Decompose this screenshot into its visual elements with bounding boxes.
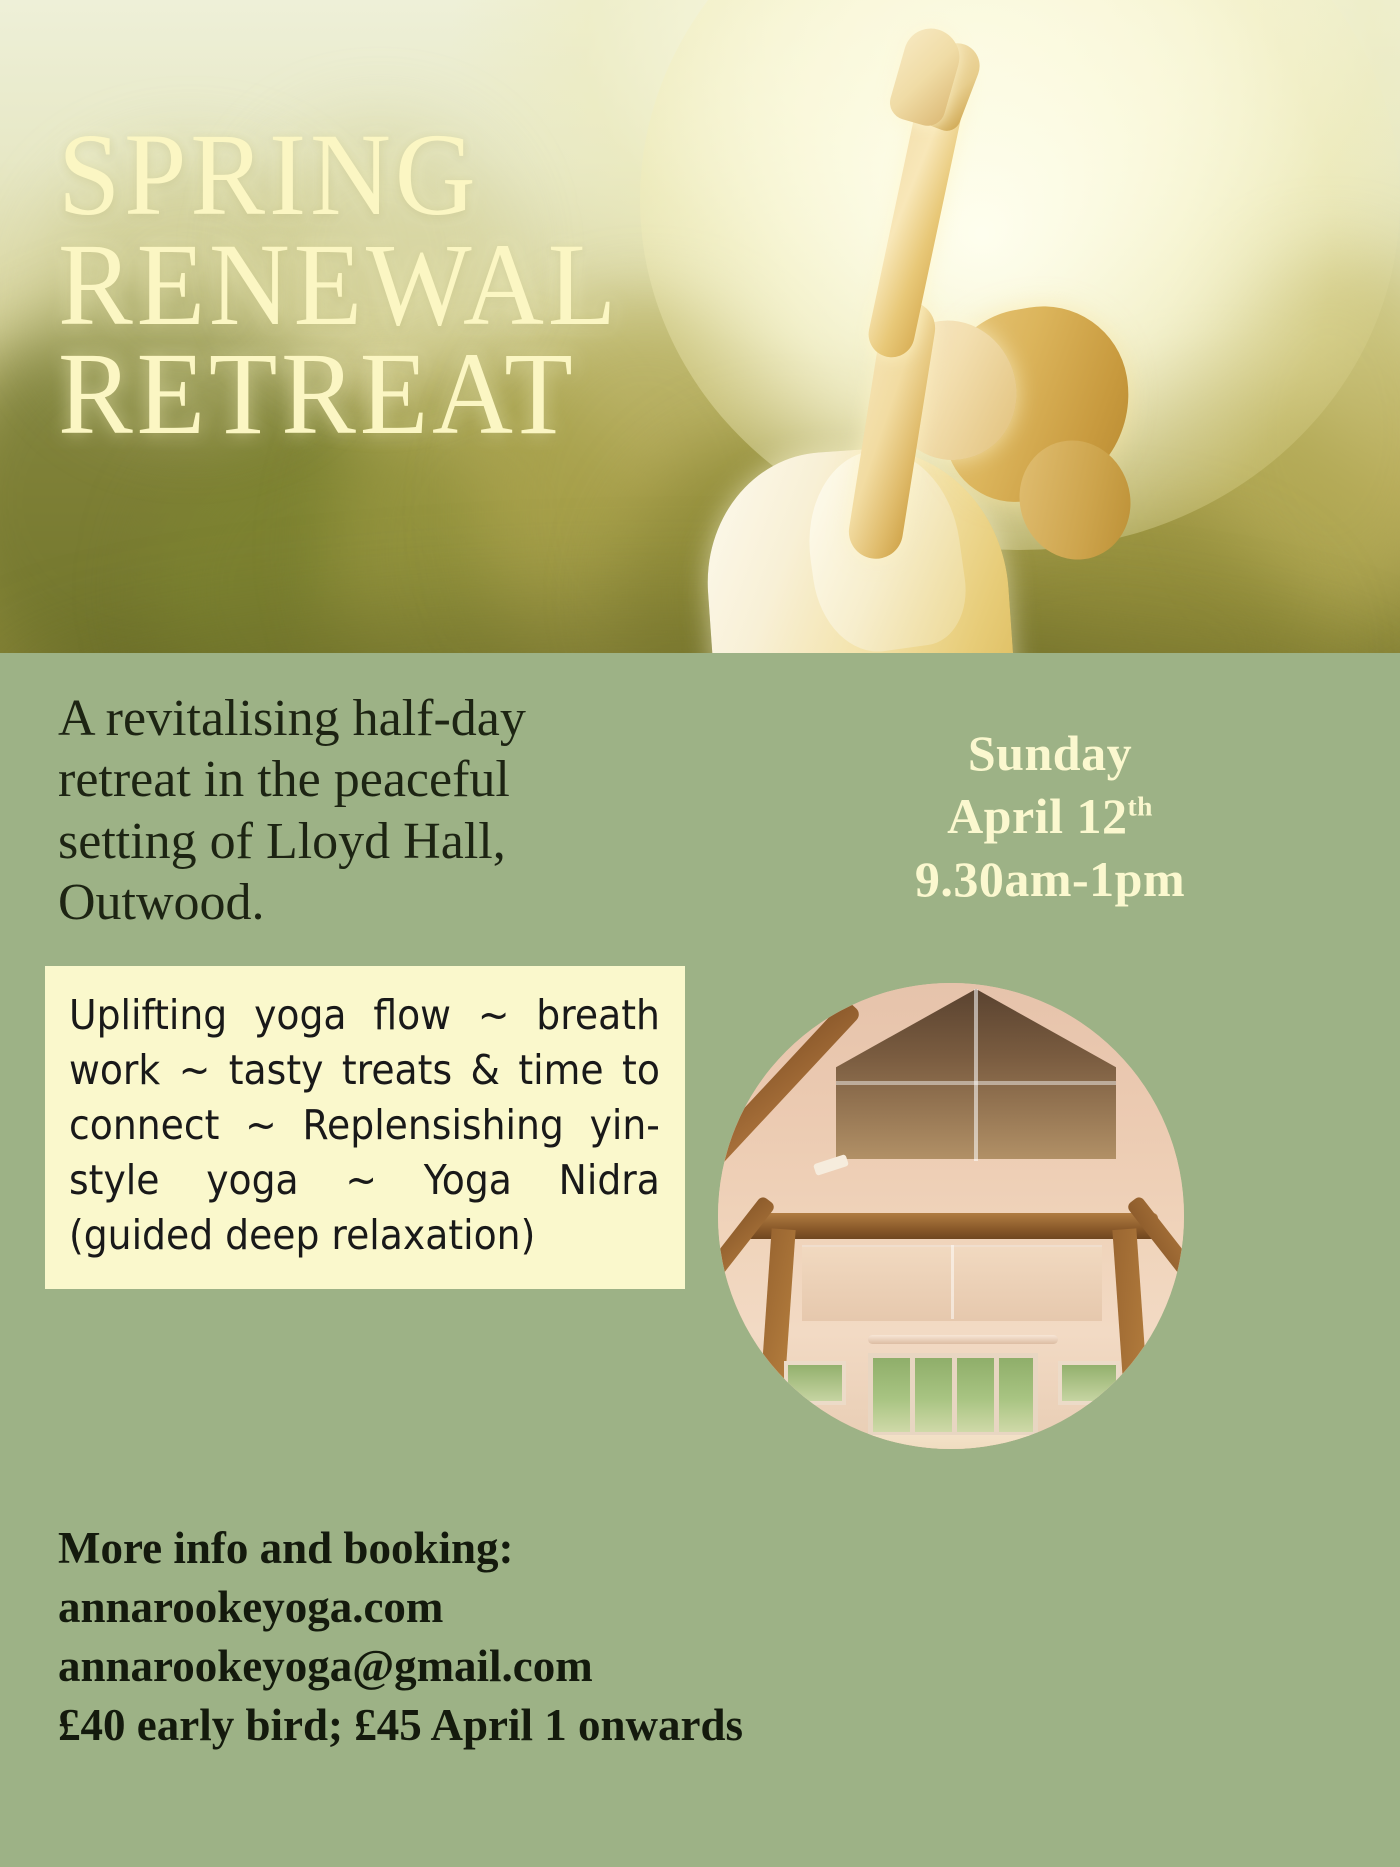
poster-root: SPRING RENEWAL RETREAT A revitalising ha… [0,0,1400,1867]
hall-floor-sheen [828,1435,1078,1449]
hall-door-mullion [994,1353,999,1437]
contact-block: More info and booking: annarookeyoga.com… [58,1519,918,1755]
hall-panel-divider [951,1245,954,1319]
intro-text: A revitalising half-day retreat in the p… [58,688,658,933]
page-title: SPRING RENEWAL RETREAT [58,120,780,449]
title-line-1: SPRING [58,120,780,230]
highlight-box: Uplifting yoga flow ~ breath work ~ tast… [45,966,685,1289]
contact-website[interactable]: annarookeyoga.com [58,1578,918,1637]
hall-tie-beam [746,1213,1158,1239]
hall-door-mullion [910,1353,915,1437]
hall-gable-crossline [836,1081,1116,1085]
date-date-main: April 12 [947,788,1127,844]
contact-heading: More info and booking: [58,1519,918,1578]
highlight-text: Uplifting yoga flow ~ breath work ~ tast… [69,988,660,1263]
venue-photo-circle [718,983,1184,1449]
hall-curtain-rail [868,1335,1058,1344]
title-line-2: RENEWAL [58,230,780,340]
hall-window-right [1058,1361,1120,1405]
hall-door-mullion [952,1353,957,1437]
date-block: Sunday April 12th 9.30am-1pm [740,722,1360,911]
date-time: 9.30am-1pm [740,848,1360,911]
date-date: April 12th [740,785,1360,848]
title-line-3: RETREAT [58,339,780,449]
contact-price: £40 early bird; £45 April 1 onwards [58,1696,918,1755]
hall-gable-ridge [974,989,978,1161]
hall-window-left [784,1361,846,1405]
date-ordinal-suffix: th [1127,790,1152,821]
contact-email[interactable]: annarookeyoga@gmail.com [58,1637,918,1696]
date-day: Sunday [740,722,1360,785]
